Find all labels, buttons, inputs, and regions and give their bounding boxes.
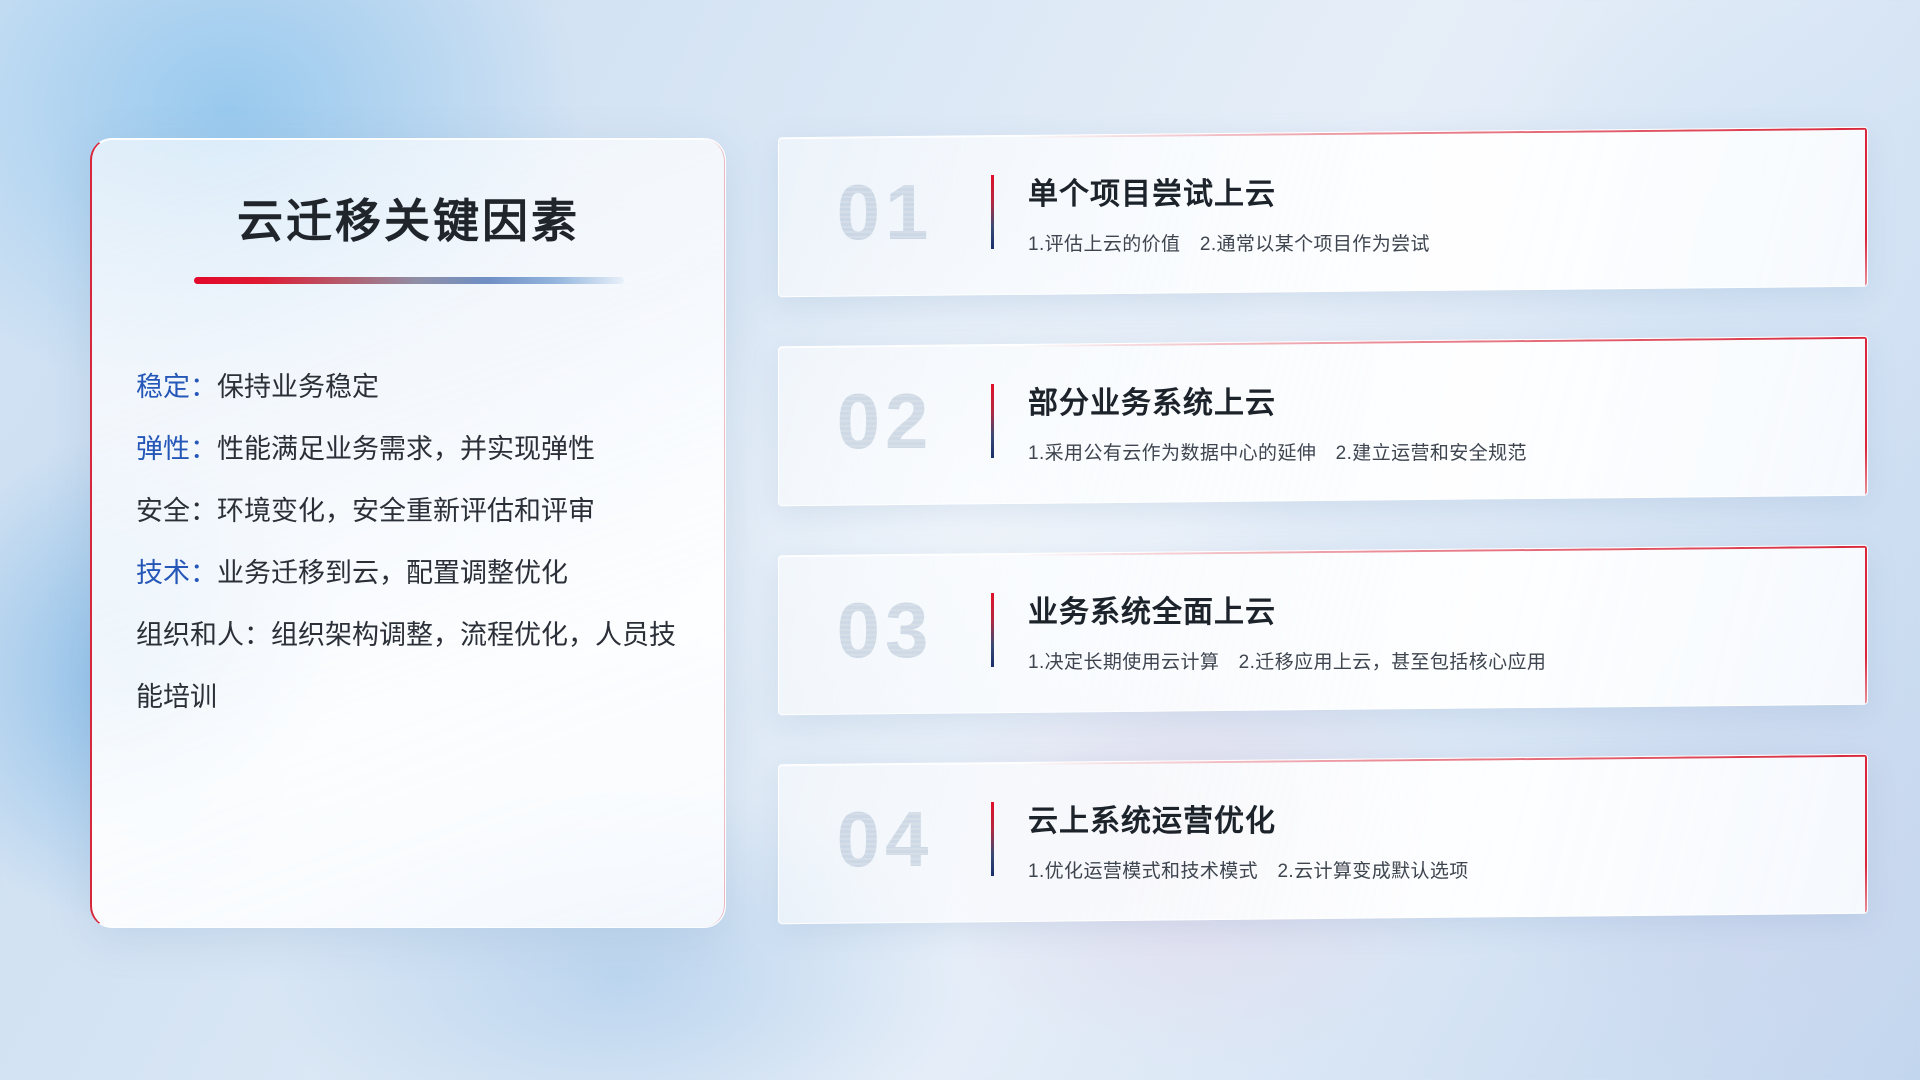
list-item: 稳定：保持业务稳定 xyxy=(136,356,691,418)
factor-value: 环境变化，安全重新评估和评审 xyxy=(217,496,595,526)
stage-card-02[interactable]: 02 部分业务系统上云 1.采用公有云作为数据中心的延伸 2.建立运营和安全规范 xyxy=(778,336,1868,506)
stage-title: 部分业务系统上云 xyxy=(1028,378,1841,422)
list-item: 安全：环境变化，安全重新评估和评审 xyxy=(136,480,691,542)
list-item: 技术：业务迁移到云，配置调整优化 xyxy=(136,542,691,604)
stage-card-04[interactable]: 04 云上系统运营优化 1.优化运营模式和技术模式 2.云计算变成默认选项 xyxy=(778,754,1868,924)
factor-value: 性能满足业务需求，并实现弹性 xyxy=(217,434,595,464)
page-title: 云迁移关键因素 xyxy=(92,185,725,251)
stage-number: 01 xyxy=(779,167,991,258)
factor-label: 安全： xyxy=(136,496,217,526)
key-factors-panel: 云迁移关键因素 稳定：保持业务稳定 弹性：性能满足业务需求，并实现弹性 安全：环… xyxy=(90,138,726,928)
stage-description: 1.决定长期使用云计算 2.迁移应用上云，甚至包括核心应用 xyxy=(1028,647,1841,674)
stage-title: 云上系统运营优化 xyxy=(1028,796,1841,840)
factor-label: 弹性： xyxy=(136,434,217,464)
factor-list: 稳定：保持业务稳定 弹性：性能满足业务需求，并实现弹性 安全：环境变化，安全重新… xyxy=(92,356,725,728)
factor-label: 组织和人： xyxy=(136,620,271,650)
list-item: 组织和人：组织架构调整，流程优化，人员技能培训 xyxy=(136,604,691,728)
stage-number: 03 xyxy=(779,585,991,676)
factor-value: 保持业务稳定 xyxy=(217,372,379,402)
stage-number: 04 xyxy=(779,794,991,885)
title-underline-rule xyxy=(194,277,624,284)
stage-description: 1.评估上云的价值 2.通常以某个项目作为尝试 xyxy=(1028,229,1841,256)
factor-value: 业务迁移到云，配置调整优化 xyxy=(217,558,568,588)
stage-number: 02 xyxy=(779,376,991,467)
stage-card-03[interactable]: 03 业务系统全面上云 1.决定长期使用云计算 2.迁移应用上云，甚至包括核心应… xyxy=(778,545,1868,715)
stage-title: 业务系统全面上云 xyxy=(1028,587,1841,631)
stage-accent-bar xyxy=(991,802,994,876)
migration-stage-list: 01 单个项目尝试上云 1.评估上云的价值 2.通常以某个项目作为尝试 02 部… xyxy=(778,132,1868,968)
stage-description: 1.优化运营模式和技术模式 2.云计算变成默认选项 xyxy=(1028,856,1841,883)
stage-accent-bar xyxy=(991,593,994,667)
stage-accent-bar xyxy=(991,175,994,249)
list-item: 弹性：性能满足业务需求，并实现弹性 xyxy=(136,418,691,480)
stage-title: 单个项目尝试上云 xyxy=(1028,169,1841,213)
stage-card-01[interactable]: 01 单个项目尝试上云 1.评估上云的价值 2.通常以某个项目作为尝试 xyxy=(778,127,1868,297)
stage-accent-bar xyxy=(991,384,994,458)
factor-label: 稳定： xyxy=(136,372,217,402)
stage-description: 1.采用公有云作为数据中心的延伸 2.建立运营和安全规范 xyxy=(1028,438,1841,465)
factor-label: 技术： xyxy=(136,558,217,588)
